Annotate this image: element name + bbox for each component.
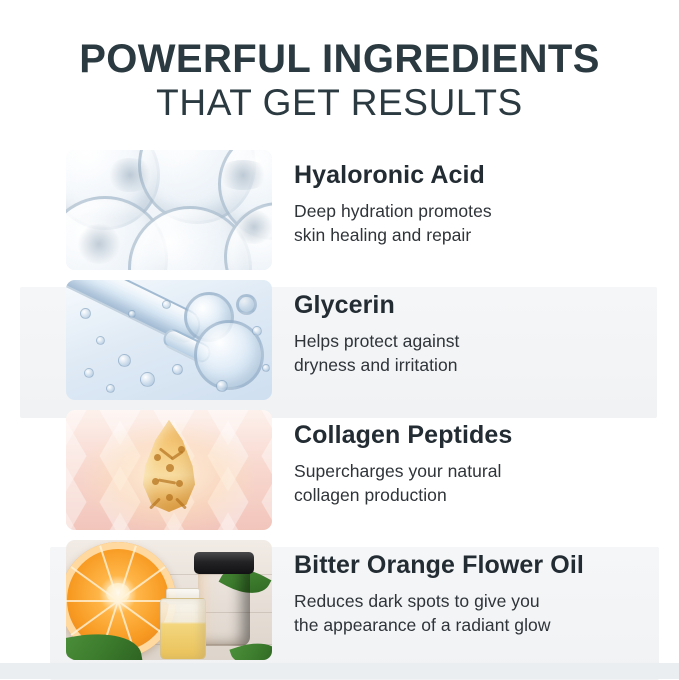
page-title-line1: POWERFUL INGREDIENTS [0,38,679,80]
ingredient-title: Glycerin [294,292,459,320]
ingredient-row-collagen-peptides: Collagen Peptides Supercharges your natu… [0,410,679,540]
ingredient-row-glycerin: Glycerin Helps protect against dryness a… [0,280,679,410]
page-title: POWERFUL INGREDIENTS THAT GET RESULTS [0,38,679,125]
ingredient-description: Deep hydration promotes skin healing and… [294,199,492,249]
ingredients-infographic: POWERFUL INGREDIENTS THAT GET RESULTS Hy… [0,0,679,679]
bottom-edge-strip [0,663,679,679]
ingredient-row-bitter-orange-flower-oil: Bitter Orange Flower Oil Reduces dark sp… [0,540,679,670]
ingredient-row-hyaloronic-acid: Hyaloronic Acid Deep hydration promotes … [0,150,679,280]
ingredient-text-collagen-peptides: Collagen Peptides Supercharges your natu… [294,410,512,508]
page-title-line2: THAT GET RESULTS [0,82,679,124]
ingredient-text-bitter-orange-flower-oil: Bitter Orange Flower Oil Reduces dark sp… [294,540,584,638]
ingredient-list: Hyaloronic Acid Deep hydration promotes … [0,150,679,670]
ingredient-title: Collagen Peptides [294,422,512,450]
ingredient-title: Hyaloronic Acid [294,162,492,190]
ingredient-description: Helps protect against dryness and irrita… [294,329,459,379]
ingredient-description: Reduces dark spots to give you the appea… [294,589,584,639]
ingredient-title: Bitter Orange Flower Oil [294,552,584,580]
ingredient-image-glycerin [66,280,272,400]
ingredient-image-collagen [66,410,272,530]
ingredient-text-hyaloronic-acid: Hyaloronic Acid Deep hydration promotes … [294,150,492,248]
ingredient-image-bubbles [66,150,272,270]
ingredient-description: Supercharges your natural collagen produ… [294,459,512,509]
ingredient-text-glycerin: Glycerin Helps protect against dryness a… [294,280,459,378]
ingredient-image-orange-oil [66,540,272,660]
